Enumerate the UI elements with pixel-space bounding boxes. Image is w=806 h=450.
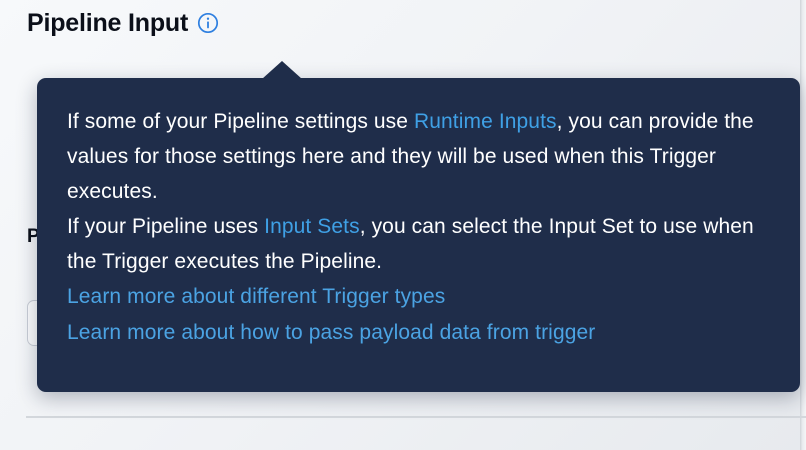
learn-more-trigger-types-link[interactable]: Learn more about different Trigger types xyxy=(67,279,770,315)
tooltip-paragraph-2: If your Pipeline uses Input Sets, you ca… xyxy=(67,209,770,279)
info-circle-icon[interactable] xyxy=(197,12,219,34)
screen-root: P Pipeline Input If some of your Pipelin… xyxy=(0,0,806,450)
tooltip-paragraph-2-part1: If your Pipeline uses xyxy=(67,215,264,238)
section-divider xyxy=(26,416,806,418)
tooltip-body: If some of your Pipeline settings use Ru… xyxy=(67,104,770,351)
runtime-inputs-link[interactable]: Runtime Inputs xyxy=(414,110,557,133)
page-title-row: Pipeline Input xyxy=(27,8,219,38)
page-title: Pipeline Input xyxy=(27,8,188,38)
input-sets-link[interactable]: Input Sets xyxy=(264,215,360,238)
tooltip-paragraph-1-part1: If some of your Pipeline settings use xyxy=(67,110,414,133)
page-right-edge xyxy=(800,0,806,450)
pipeline-input-tooltip: If some of your Pipeline settings use Ru… xyxy=(37,78,800,392)
tooltip-paragraph-1: If some of your Pipeline settings use Ru… xyxy=(67,104,770,209)
learn-more-payload-data-link[interactable]: Learn more about how to pass payload dat… xyxy=(67,315,770,351)
tooltip-arrow xyxy=(262,61,302,79)
